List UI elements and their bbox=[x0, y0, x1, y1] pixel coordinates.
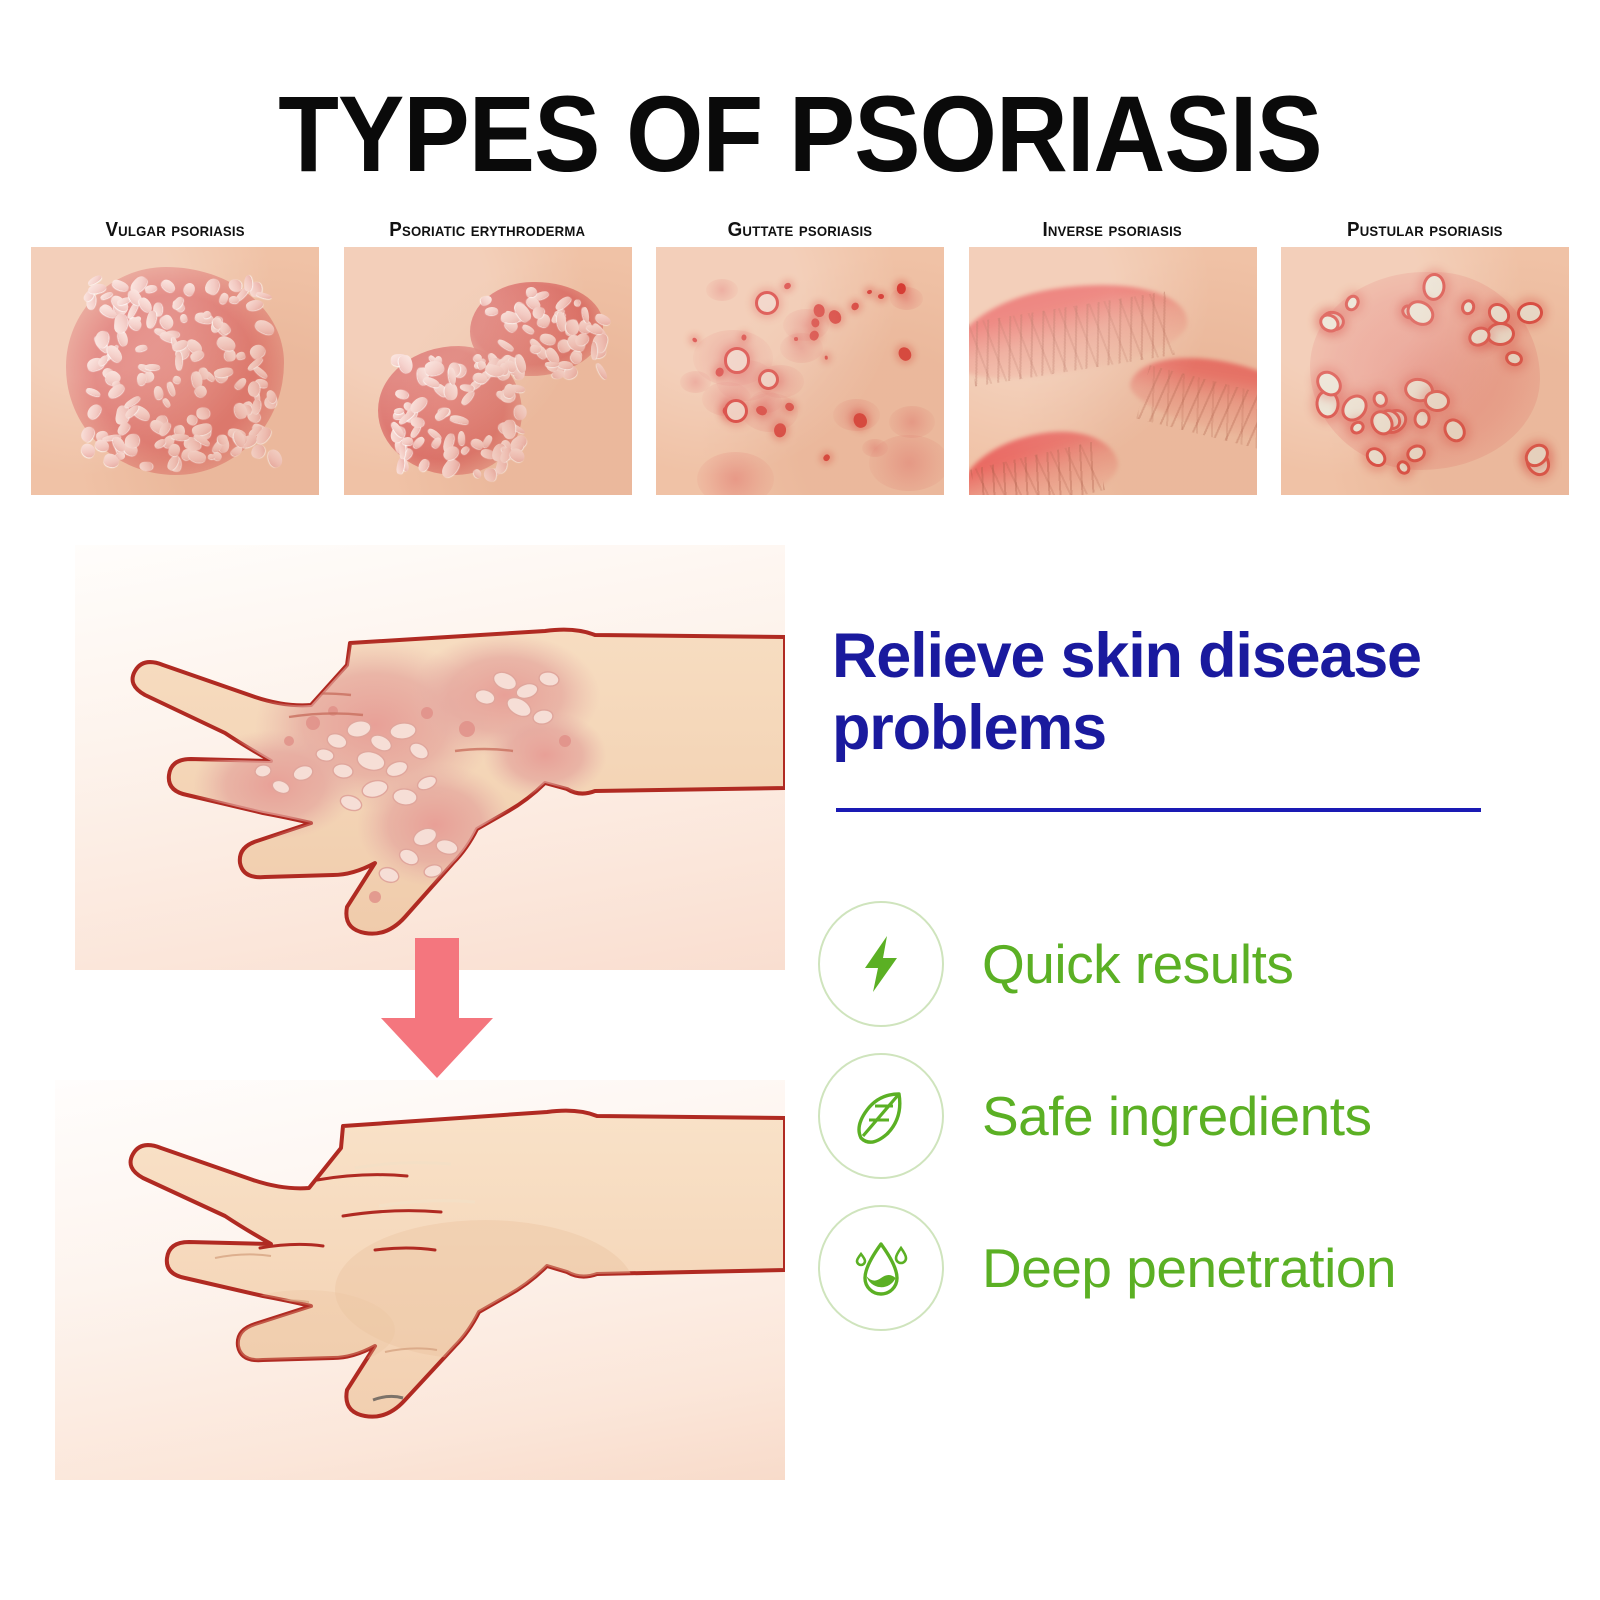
vulgar-psoriasis-photo bbox=[31, 247, 319, 495]
arrow-down-icon bbox=[381, 938, 493, 1078]
psoriasis-type-label: Pustular psoriasis bbox=[1347, 215, 1503, 247]
pustular-psoriasis-photo bbox=[1281, 247, 1569, 495]
diseased-hand-drawing bbox=[75, 545, 785, 970]
inverse-psoriasis-photo bbox=[969, 247, 1257, 495]
psoriasis-type-label: Guttate psoriasis bbox=[728, 215, 873, 247]
feature-item-safe-ingredients[interactable]: Safe ingredients bbox=[818, 1040, 1578, 1192]
hand-with-psoriasis-illustration bbox=[75, 545, 785, 970]
feature-label: Quick results bbox=[982, 934, 1293, 994]
feature-label: Safe ingredients bbox=[982, 1086, 1372, 1146]
feature-list: Quick results Safe ingredients Deep pene… bbox=[818, 888, 1578, 1344]
psoriasis-type-card[interactable]: Inverse psoriasis bbox=[969, 215, 1257, 505]
water-droplet-icon bbox=[818, 1205, 944, 1331]
healed-hand-illustration bbox=[55, 1080, 785, 1480]
leaf-icon bbox=[818, 1053, 944, 1179]
psoriasis-types-strip: Vulgar psoriasis Psoriatic erythroderma … bbox=[31, 215, 1569, 505]
psoriasis-type-card[interactable]: Vulgar psoriasis bbox=[31, 215, 319, 505]
guttate-psoriasis-photo bbox=[656, 247, 944, 495]
lightning-bolt-icon bbox=[818, 901, 944, 1027]
psoriatic-erythroderma-photo bbox=[344, 247, 632, 495]
feature-item-quick-results[interactable]: Quick results bbox=[818, 888, 1578, 1040]
page-headline: Relieve skin disease problems bbox=[832, 620, 1532, 764]
feature-item-deep-penetration[interactable]: Deep penetration bbox=[818, 1192, 1578, 1344]
psoriasis-type-label: Vulgar psoriasis bbox=[105, 215, 244, 247]
healthy-hand-drawing bbox=[55, 1080, 785, 1480]
psoriasis-type-card[interactable]: Psoriatic erythroderma bbox=[344, 215, 632, 505]
headline-divider bbox=[836, 808, 1481, 812]
psoriasis-type-card[interactable]: Guttate psoriasis bbox=[656, 215, 944, 505]
page-title: TYPES OF PSORIASIS bbox=[64, 82, 1536, 186]
psoriasis-type-label: Psoriatic erythroderma bbox=[390, 215, 586, 247]
psoriasis-type-label: Inverse psoriasis bbox=[1043, 215, 1182, 247]
feature-label: Deep penetration bbox=[982, 1238, 1396, 1298]
psoriasis-type-card[interactable]: Pustular psoriasis bbox=[1281, 215, 1569, 505]
